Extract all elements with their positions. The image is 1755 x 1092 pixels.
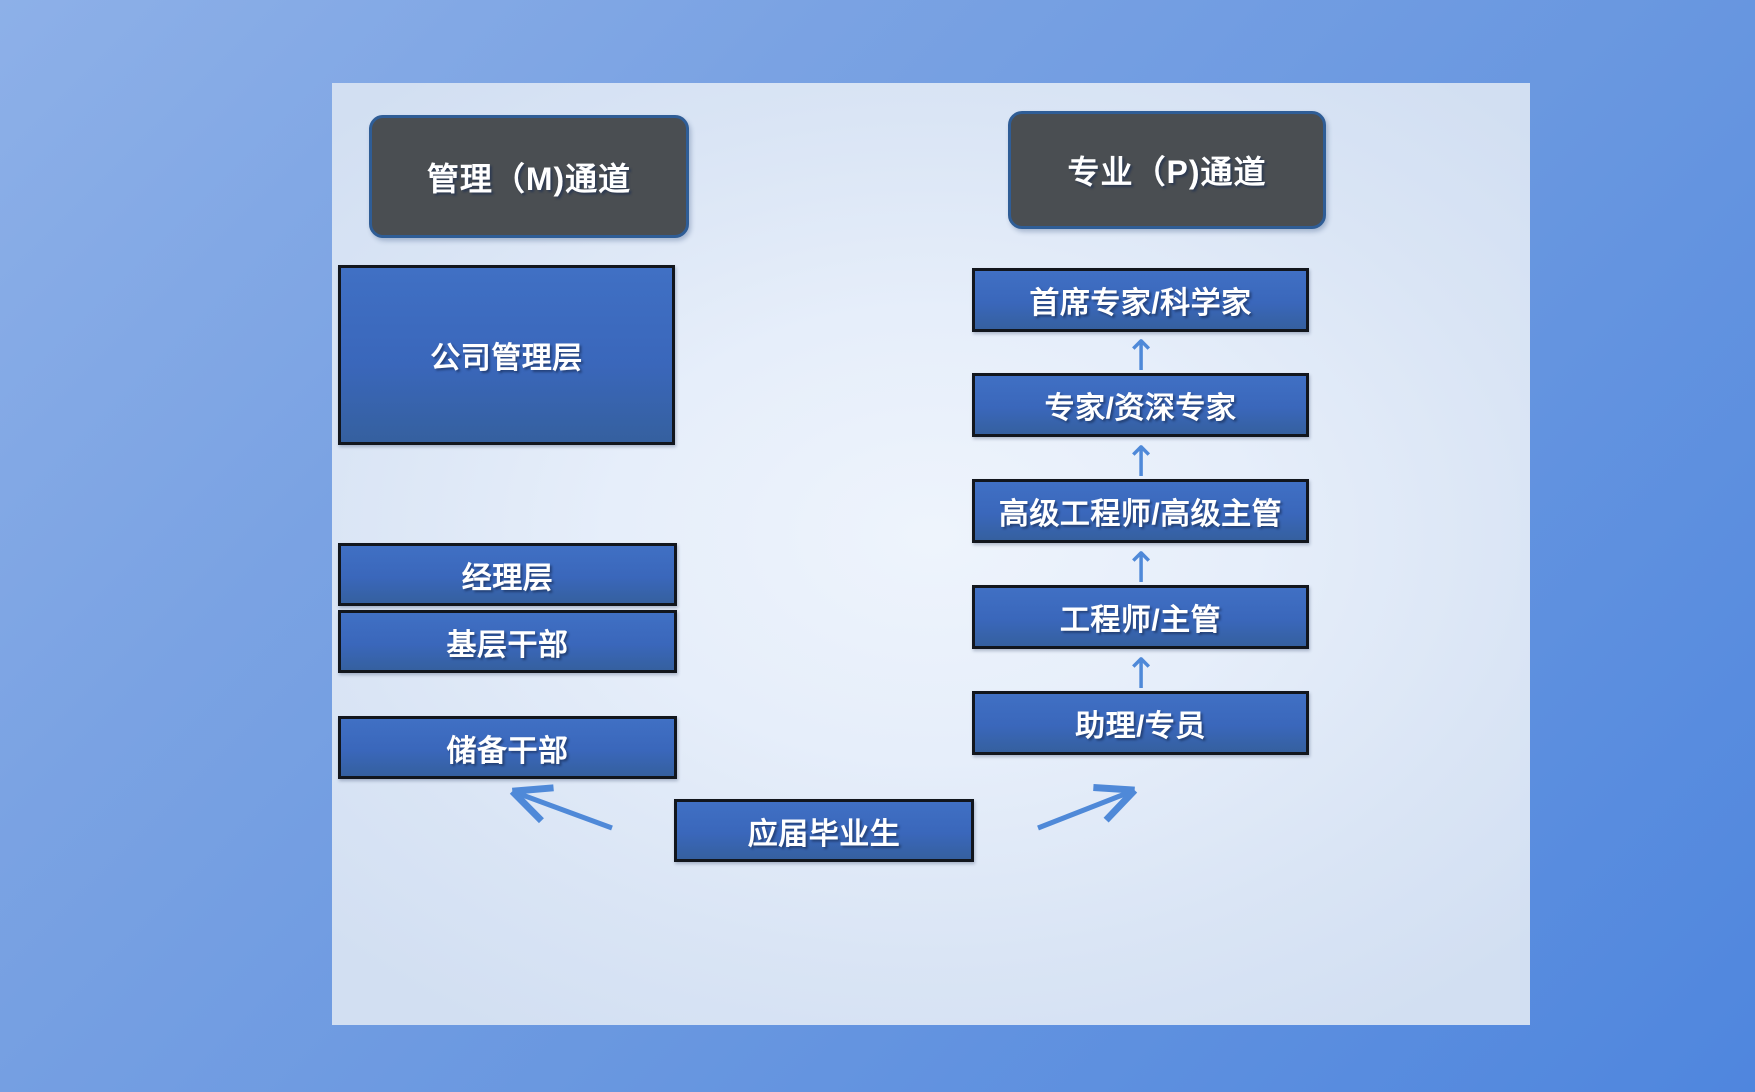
level-box-professional-1-label: 专家/资深专家 — [1045, 383, 1237, 427]
level-box-professional-3[interactable]: 工程师/主管 — [972, 585, 1309, 649]
level-box-professional-2[interactable]: 高级工程师/高级主管 — [972, 479, 1309, 543]
channel-header-management-label: 管理（M)通道 — [427, 154, 631, 200]
level-box-professional-3-label: 工程师/主管 — [1060, 595, 1221, 639]
level-box-management-0[interactable]: 公司管理层 — [338, 265, 675, 445]
slide-panel: 管理（M)通道 专业（P)通道 公司管理层 ↑ 经理层 ↑ 基层干部 ↑ 储备干… — [332, 83, 1530, 1025]
channel-header-professional[interactable]: 专业（P)通道 — [1008, 111, 1326, 229]
level-box-management-0-label: 公司管理层 — [430, 333, 583, 377]
level-box-management-3[interactable]: 储备干部 — [338, 716, 677, 779]
level-box-professional-0-label: 首席专家/科学家 — [1029, 278, 1251, 322]
level-box-professional-1[interactable]: 专家/资深专家 — [972, 373, 1309, 437]
entry-box-graduates[interactable]: 应届毕业生 — [674, 799, 974, 862]
arrow-up-professional-1: ↑ — [1117, 441, 1165, 483]
arrow-up-left-to-management — [517, 793, 612, 828]
level-box-management-1-label: 经理层 — [462, 553, 554, 597]
arrow-up-professional-0: ↑ — [1117, 335, 1165, 377]
channel-header-management[interactable]: 管理（M)通道 — [369, 115, 689, 238]
entry-box-graduates-label: 应届毕业生 — [748, 809, 901, 853]
level-box-management-3-label: 储备干部 — [447, 726, 569, 770]
level-box-professional-4-label: 助理/专员 — [1075, 701, 1206, 745]
level-box-management-2[interactable]: 基层干部 — [338, 610, 677, 673]
arrow-up-professional-2: ↑ — [1117, 547, 1165, 589]
channel-header-professional-label: 专业（P)通道 — [1067, 147, 1266, 193]
level-box-professional-4[interactable]: 助理/专员 — [972, 691, 1309, 755]
arrow-up-right-to-professional — [1038, 792, 1130, 828]
level-box-professional-0[interactable]: 首席专家/科学家 — [972, 268, 1309, 332]
arrow-up-professional-3: ↑ — [1117, 653, 1165, 695]
level-box-professional-2-label: 高级工程师/高级主管 — [999, 489, 1282, 533]
level-box-management-2-label: 基层干部 — [447, 620, 569, 664]
level-box-management-1[interactable]: 经理层 — [338, 543, 677, 606]
